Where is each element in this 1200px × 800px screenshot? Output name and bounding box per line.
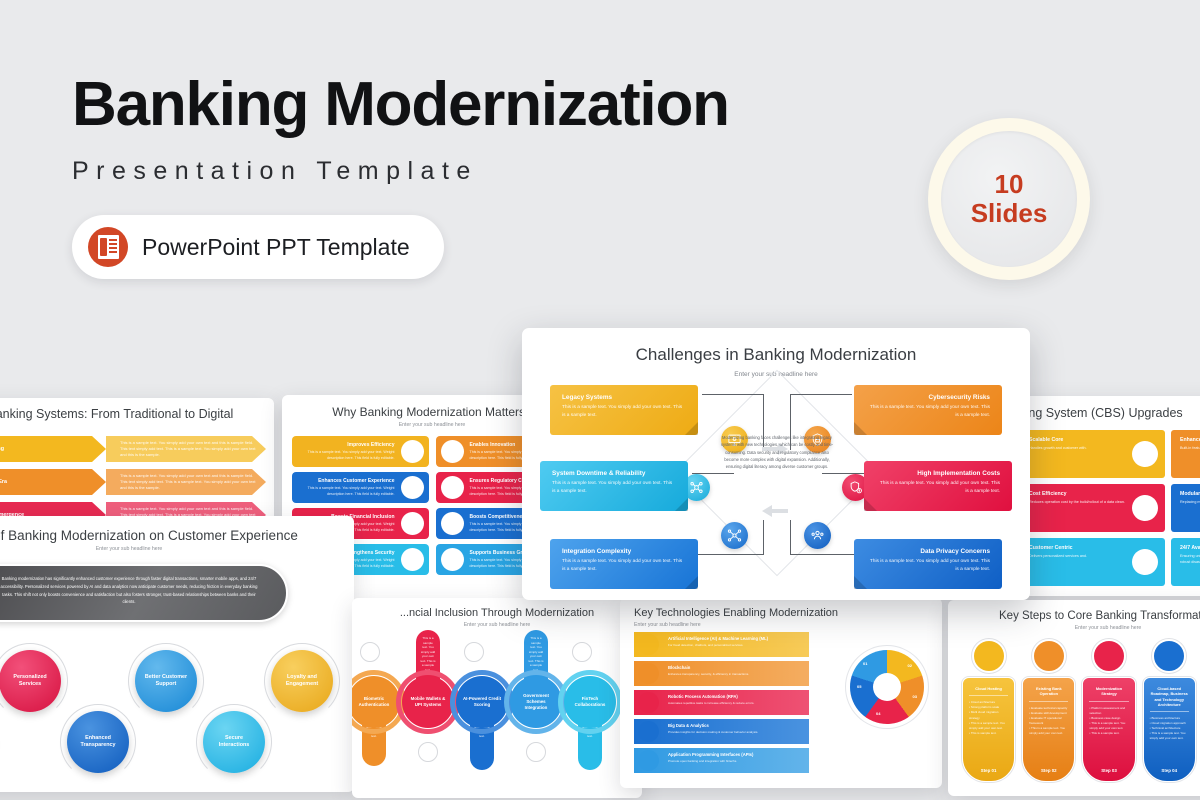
slide-header: ...ng System (CBS) Upgrades bbox=[1008, 396, 1200, 420]
row-body: This is a sample text. You simply add yo… bbox=[106, 436, 266, 462]
donut-num-01: 01 bbox=[863, 661, 867, 666]
tech-bar: Robotic Process Automation (RPA) Automat… bbox=[634, 690, 809, 715]
list-item[interactable]: Modular Architecture Replacing monolithi… bbox=[1171, 484, 1200, 532]
featured-slide-challenges[interactable]: Challenges in Banking Modernization Ente… bbox=[522, 328, 1030, 600]
cbs-card-grid: Scalable Core Handles growth and custome… bbox=[1008, 420, 1200, 596]
rpa-icon bbox=[638, 692, 659, 713]
api-icon bbox=[638, 750, 659, 771]
card-text: This is a sample text. You simply add yo… bbox=[876, 480, 1000, 496]
card-fold bbox=[685, 576, 698, 589]
step-card: Cloud-based Roadmap, Business and Techno… bbox=[1143, 677, 1196, 782]
card-label: Integration Complexity bbox=[562, 548, 686, 555]
tech-text: Provides insights for decision making & … bbox=[668, 730, 803, 735]
competitive-icon bbox=[441, 512, 464, 535]
bubble-row: Instant Access to Services Faster Transa… bbox=[0, 626, 354, 776]
background-slide-financial-inclusion[interactable]: ...ncial Inclusion Through Modernization… bbox=[352, 598, 642, 798]
security-icon bbox=[401, 548, 424, 571]
card-label: 24/7 Availability bbox=[1180, 545, 1200, 551]
powerpoint-badge[interactable]: PowerPoint PPT Template bbox=[72, 215, 444, 279]
slide-subtitle: Enter your sub headline here bbox=[352, 622, 642, 628]
growth-icon bbox=[441, 548, 464, 571]
slide-header: ...n of Banking Systems: From Traditiona… bbox=[0, 398, 274, 430]
list-item[interactable]: FinTech Collaborations bbox=[564, 676, 616, 728]
chevron-label-block: Traditional Banking bbox=[0, 436, 106, 462]
powerpoint-badge-label: PowerPoint PPT Template bbox=[142, 234, 410, 261]
slide-count-unit: Slides bbox=[971, 199, 1048, 228]
slide-subtitle: Enter your sub headline here bbox=[634, 622, 942, 628]
poster-stage: ...n of Banking Systems: From Traditiona… bbox=[0, 0, 1200, 800]
connector bbox=[790, 394, 852, 395]
compliance-icon bbox=[441, 476, 464, 499]
connector bbox=[698, 554, 764, 555]
card-label: Legacy Systems bbox=[562, 394, 686, 401]
row-text: This is a sample text. You simply add yo… bbox=[300, 450, 395, 461]
slide-count-number: 10 bbox=[995, 170, 1024, 199]
page-title: Banking Modernization bbox=[72, 72, 729, 137]
slide-title: Key Steps to Core Banking Transformation bbox=[948, 610, 1200, 622]
step-columns: Cloud Hosting • Cloud architecture• Stro… bbox=[948, 631, 1200, 782]
list-item[interactable]: Enhanced Security & Compliance Built-in … bbox=[1171, 430, 1200, 478]
efficiency-icon bbox=[401, 440, 424, 463]
credit-scoring-icon bbox=[464, 642, 484, 662]
bubble-ring bbox=[196, 704, 272, 780]
card-text: This is a sample text. You simply add yo… bbox=[866, 404, 990, 420]
blockchain-icon bbox=[638, 663, 659, 684]
integration-nodes-icon[interactable] bbox=[721, 522, 748, 549]
modernization-strategy-icon bbox=[1092, 639, 1126, 673]
list-item[interactable]: Scalable Core Handles growth and custome… bbox=[1020, 430, 1165, 478]
list-item[interactable]: Cloud Hosting • Cloud architecture• Stro… bbox=[962, 639, 1015, 782]
list-item[interactable]: Computerisation Era This is a sample tex… bbox=[0, 468, 266, 496]
slide-subtitle: Enter your sub headline here bbox=[0, 424, 274, 430]
biometric-icon bbox=[360, 642, 380, 662]
chevron-label-block: Computerisation Era bbox=[0, 469, 106, 495]
government-scheme-icon bbox=[526, 742, 546, 762]
cost-efficiency-icon bbox=[1132, 495, 1158, 521]
slide-title: Key Technologies Enabling Modernization bbox=[634, 607, 942, 619]
list-item[interactable]: Improves EfficiencyThis is a sample text… bbox=[292, 436, 429, 467]
ai-ml-icon bbox=[638, 634, 659, 655]
slide-count-inner: 10 Slides bbox=[941, 131, 1077, 267]
mobile-wallet-icon bbox=[418, 742, 438, 762]
tech-text: Enhances transparency, security, & effic… bbox=[668, 672, 803, 677]
step-bullets: • Business architecture• Cloud migration… bbox=[1150, 716, 1189, 741]
step-label: Existing Bank Operation bbox=[1029, 686, 1068, 702]
list-item[interactable]: Mobile Wallets & UPI Systems bbox=[402, 676, 454, 728]
connector bbox=[790, 520, 791, 555]
card-text: Delivers personalized services and. bbox=[1029, 554, 1131, 560]
cloud-hosting-icon bbox=[972, 639, 1006, 673]
fintech-icon bbox=[572, 642, 592, 662]
row-label: Improves Efficiency bbox=[300, 442, 395, 448]
roadmap-architecture-icon bbox=[1152, 639, 1186, 673]
card-fold bbox=[675, 498, 688, 511]
list-item[interactable]: Cloud-based Roadmap, Business and Techno… bbox=[1143, 639, 1196, 782]
step-bullets: • Cloud architecture• Strong platform sc… bbox=[969, 700, 1008, 736]
customer-icon bbox=[401, 476, 424, 499]
tech-label: Application Programming Interfaces (APIs… bbox=[668, 752, 803, 757]
slide-header: Key Technologies Enabling Modernization … bbox=[620, 598, 942, 628]
donut-num-05: 05 bbox=[857, 684, 861, 689]
card-label: Cost Efficiency bbox=[1029, 491, 1131, 497]
tech-bar: Big Data & Analytics Provides insights f… bbox=[634, 719, 809, 744]
list-item[interactable]: Biometric Authentication bbox=[352, 676, 400, 728]
donut-num-04: 04 bbox=[876, 711, 880, 716]
tech-bar: Artificial Intelligence (AI) & Machine L… bbox=[634, 632, 809, 657]
card-fold bbox=[864, 498, 877, 511]
card-text: Ensuring uninterrupted service with mini… bbox=[1180, 554, 1200, 565]
row-label: Computerisation Era bbox=[0, 479, 7, 485]
list-item[interactable]: Traditional Banking This is a sample tex… bbox=[0, 435, 266, 463]
card-label: Data Privacy Concerns bbox=[866, 548, 990, 555]
card-integration-complexity[interactable]: Integration Complexity This is a sample … bbox=[550, 539, 698, 589]
slide-title: ...act of Banking Modernization on Custo… bbox=[0, 528, 354, 543]
card-text: This is a sample text. You simply add yo… bbox=[562, 558, 686, 574]
step-label: Modernization Strategy bbox=[1089, 686, 1128, 702]
step-label: Cloud Hosting bbox=[969, 686, 1008, 696]
card-text: Built-in features for regulatory complia… bbox=[1180, 446, 1200, 452]
slide-title: ...ncial Inclusion Through Modernization bbox=[352, 607, 642, 619]
slide-title: ...ng System (CBS) Upgrades bbox=[1018, 406, 1200, 420]
donut-num-03: 03 bbox=[913, 694, 917, 699]
connector bbox=[790, 554, 856, 555]
big-data-icon bbox=[638, 721, 659, 742]
list-item[interactable]: Cost Efficiency Reduces operation cost b… bbox=[1020, 484, 1165, 532]
list-item[interactable]: Secure Interactions bbox=[203, 711, 265, 773]
featured-slide-title: Challenges in Banking Modernization bbox=[522, 328, 1030, 365]
hero-block: Banking Modernization Presentation Templ… bbox=[72, 72, 729, 279]
intro-banner: Banking modernization has significantly … bbox=[0, 564, 288, 622]
flow-arrow-left bbox=[762, 504, 788, 516]
list-item[interactable]: Enhanced Transparency bbox=[67, 711, 129, 773]
bubble-ring bbox=[264, 643, 340, 719]
slide-header: ...ncial Inclusion Through Modernization… bbox=[352, 598, 642, 628]
card-legacy-systems[interactable]: Legacy Systems This is a sample text. Yo… bbox=[550, 385, 698, 435]
card-label: Enhanced Security & Compliance bbox=[1180, 437, 1200, 443]
tech-label: Blockchain bbox=[668, 665, 803, 670]
step-footer: Step 03 bbox=[1089, 768, 1128, 773]
bubble-ring bbox=[128, 643, 204, 719]
slide-count-badge: 10 Slides bbox=[928, 118, 1090, 280]
step-bullets: • Evaluate technical capacity• Evaluate … bbox=[1029, 706, 1068, 737]
card-text: Replacing monolithic systems with flexib… bbox=[1180, 500, 1200, 506]
tech-donut-chart: 01 02 03 04 05 bbox=[850, 650, 924, 724]
scalable-core-icon bbox=[1132, 441, 1158, 467]
node-row: This is a sample text. You simply add yo… bbox=[352, 634, 642, 784]
customer-centric-icon bbox=[1132, 549, 1158, 575]
background-slide-customer-experience[interactable]: ...act of Banking Modernization on Custo… bbox=[0, 516, 354, 792]
page-subtitle: Presentation Template bbox=[72, 157, 729, 186]
background-slide-key-steps[interactable]: Key Steps to Core Banking Transformation… bbox=[948, 600, 1200, 796]
donut-num-02: 02 bbox=[908, 663, 912, 668]
list-item[interactable]: Customer Centric Delivers personalized s… bbox=[1020, 538, 1165, 586]
card-text: This is a sample text. You simply add yo… bbox=[866, 558, 990, 574]
featured-center-text: Modernizing banking faces challenges lik… bbox=[718, 434, 836, 471]
powerpoint-icon bbox=[88, 227, 128, 267]
bubble-ring bbox=[0, 643, 68, 719]
card-system-downtime[interactable]: System Downtime & Reliability This is a … bbox=[540, 461, 688, 511]
slide-header: Key Steps to Core Banking Transformation… bbox=[948, 600, 1200, 631]
card-fold bbox=[854, 576, 867, 589]
card-text: This is a sample text. You simply add yo… bbox=[552, 480, 676, 496]
card-text: This is a sample text. You simply add yo… bbox=[562, 404, 686, 420]
bubble-ring bbox=[60, 704, 136, 780]
tech-label: Big Data & Analytics bbox=[668, 723, 803, 728]
card-label: Modular Architecture bbox=[1180, 491, 1200, 497]
list-item[interactable]: 24/7 Availability Ensuring uninterrupted… bbox=[1171, 538, 1200, 586]
step-card: Modernization Strategy • Platform assess… bbox=[1082, 677, 1135, 782]
slide-header: ...act of Banking Modernization on Custo… bbox=[0, 516, 354, 552]
connector bbox=[702, 394, 764, 395]
list-item[interactable]: Government Schemes Integration bbox=[510, 676, 562, 728]
card-label: Scalable Core bbox=[1029, 437, 1131, 443]
step-footer: Step 04 bbox=[1150, 768, 1189, 773]
step-label: Cloud-based Roadmap, Business and Techno… bbox=[1150, 686, 1189, 712]
card-text: Reduces operation cost by the build/roll… bbox=[1029, 500, 1131, 506]
tech-text: Promote open banking and integration wit… bbox=[668, 759, 803, 764]
card-fold bbox=[854, 422, 867, 435]
tech-bar: Application Programming Interfaces (APIs… bbox=[634, 748, 809, 773]
step-card: Cloud Hosting • Cloud architecture• Stro… bbox=[962, 677, 1015, 782]
background-slide-cbs-upgrades[interactable]: ...ng System (CBS) Upgrades Scalable Cor… bbox=[1008, 396, 1200, 596]
card-cybersecurity-risks[interactable]: Cybersecurity Risks This is a sample tex… bbox=[854, 385, 1002, 435]
card-data-privacy[interactable]: Data Privacy Concerns This is a sample t… bbox=[854, 539, 1002, 589]
inclusion-icon bbox=[401, 512, 424, 535]
list-item[interactable]: Loyalty and Engagement bbox=[271, 650, 333, 712]
step-footer: Step 02 bbox=[1029, 768, 1068, 773]
card-label: Customer Centric bbox=[1029, 545, 1131, 551]
tech-label: Artificial Intelligence (AI) & Machine L… bbox=[668, 636, 803, 641]
step-footer: Step 01 bbox=[969, 768, 1008, 773]
donut-center-icon bbox=[873, 673, 901, 701]
card-fold bbox=[685, 422, 698, 435]
privacy-people-icon[interactable] bbox=[804, 522, 831, 549]
list-item[interactable]: AI-Powered Credit Scoring bbox=[456, 676, 508, 728]
connector bbox=[763, 520, 764, 555]
node-ring bbox=[558, 670, 622, 734]
step-bullets: • Platform assessment and selection• Bus… bbox=[1089, 706, 1128, 737]
tech-text: For fraud detection, chatbots, and perso… bbox=[668, 643, 803, 648]
step-card: Existing Bank Operation • Evaluate techn… bbox=[1022, 677, 1075, 782]
background-slide-key-technologies[interactable]: Key Technologies Enabling Modernization … bbox=[620, 598, 942, 788]
chevron-list: Traditional Banking This is a sample tex… bbox=[0, 435, 274, 529]
tech-bar: Blockchain Enhances transparency, securi… bbox=[634, 661, 809, 686]
card-label: High Implementation Costs bbox=[876, 470, 1000, 477]
card-label: Cybersecurity Risks bbox=[866, 394, 990, 401]
slide-subtitle: Enter your sub headline here bbox=[0, 546, 354, 552]
slide-title: ...n of Banking Systems: From Traditiona… bbox=[0, 407, 274, 421]
card-text: Handles growth and customer with. bbox=[1029, 446, 1131, 452]
card-high-costs[interactable]: High Implementation Costs This is a samp… bbox=[864, 461, 1012, 511]
list-item[interactable]: Modernization Strategy • Platform assess… bbox=[1082, 639, 1135, 782]
bank-operation-icon bbox=[1032, 639, 1066, 673]
list-item[interactable]: Personalized Services bbox=[0, 650, 61, 712]
row-label: Enhances Customer Experience bbox=[300, 478, 395, 484]
tech-text: Automates repetitive tasks to increase e… bbox=[668, 701, 803, 706]
row-text: This is a sample text. You simply add yo… bbox=[300, 486, 395, 497]
innovation-icon bbox=[441, 440, 464, 463]
list-item[interactable]: Application Programming Interfaces (APIs… bbox=[634, 748, 942, 773]
row-label: Traditional Banking bbox=[0, 446, 4, 452]
list-item[interactable]: Existing Bank Operation • Evaluate techn… bbox=[1022, 639, 1075, 782]
tech-label: Robotic Process Automation (RPA) bbox=[668, 694, 803, 699]
card-label: System Downtime & Reliability bbox=[552, 470, 676, 477]
list-item[interactable]: Better Customer Support bbox=[135, 650, 197, 712]
list-item[interactable]: Enhances Customer ExperienceThis is a sa… bbox=[292, 472, 429, 503]
row-body: This is a sample text. You simply add yo… bbox=[106, 469, 266, 495]
